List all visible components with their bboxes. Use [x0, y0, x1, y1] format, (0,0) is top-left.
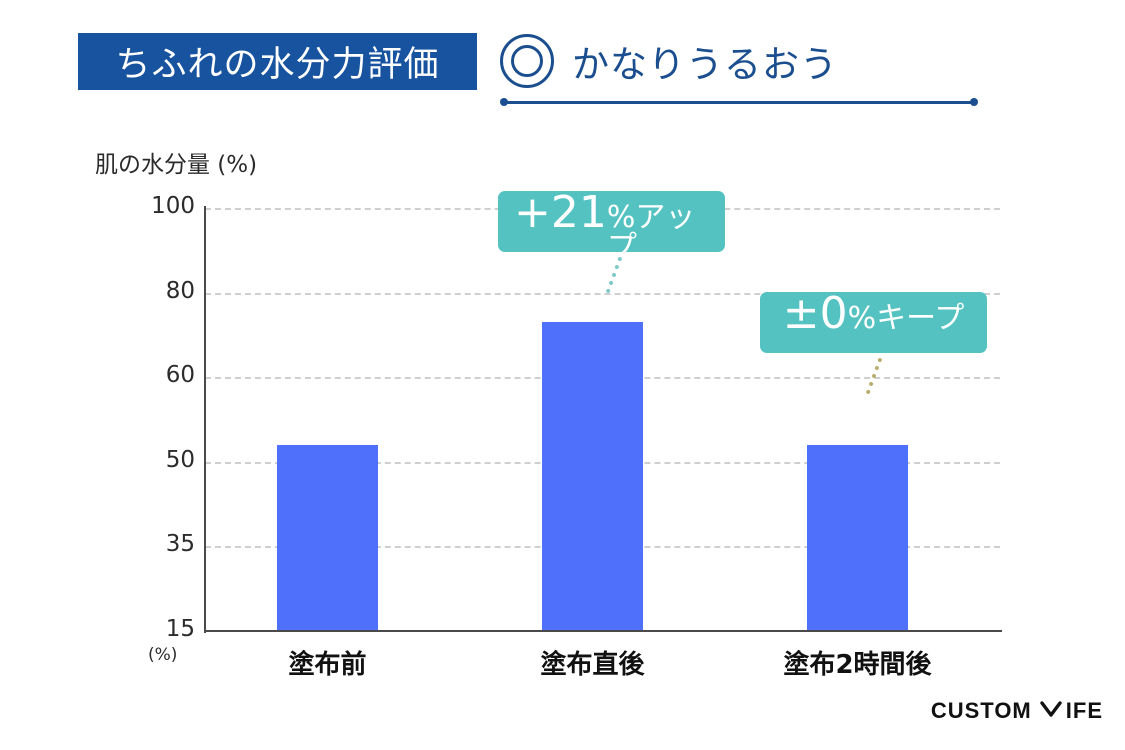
logo-text-custom: CUSTOM [931, 698, 1032, 724]
x-axis-category-label: 塗布直後 [463, 644, 723, 681]
y-axis-tick-label: 15 [125, 616, 195, 642]
y-axis-tick-label: 35 [125, 531, 195, 557]
axis-unit-note: (%) [148, 645, 177, 665]
x-axis-line [204, 630, 1002, 632]
plot-area [205, 208, 1000, 631]
y-axis-tick-labels: 1008060503515 [125, 208, 195, 631]
chart-page: ちふれの水分力評価 かなりうるおう 肌の水分量 (%) 100806050351… [0, 0, 1125, 750]
callout-unit: %キープ [848, 304, 965, 334]
x-axis-category-label: 塗布2時間後 [728, 644, 988, 681]
logo-text-ife: IFE [1066, 698, 1103, 724]
bar [277, 445, 378, 631]
bar [807, 445, 908, 631]
callout-badge: +21%アップ [498, 191, 725, 252]
x-axis-category-label: 塗布前 [198, 644, 458, 681]
y-axis-tick-label: 50 [125, 447, 195, 473]
logo-check-icon [1040, 698, 1062, 724]
y-axis-tick-label: 80 [125, 278, 195, 304]
y-axis-title: 肌の水分量 (%) [95, 145, 257, 179]
bar [542, 322, 643, 631]
callout-value: ±0 [783, 292, 848, 336]
bar-chart: 肌の水分量 (%) 1008060503515 (%) 塗布前塗布直後塗布2時間… [0, 0, 1125, 750]
callout-badge: ±0%キープ [760, 292, 987, 353]
callout-value: +21 [514, 191, 607, 235]
callout-unit: %アップ [607, 203, 709, 263]
y-axis-tick-label: 100 [125, 193, 195, 219]
brand-logo: CUSTOM IFE [931, 698, 1103, 724]
y-axis-line [204, 206, 206, 633]
y-axis-tick-label: 60 [125, 362, 195, 388]
